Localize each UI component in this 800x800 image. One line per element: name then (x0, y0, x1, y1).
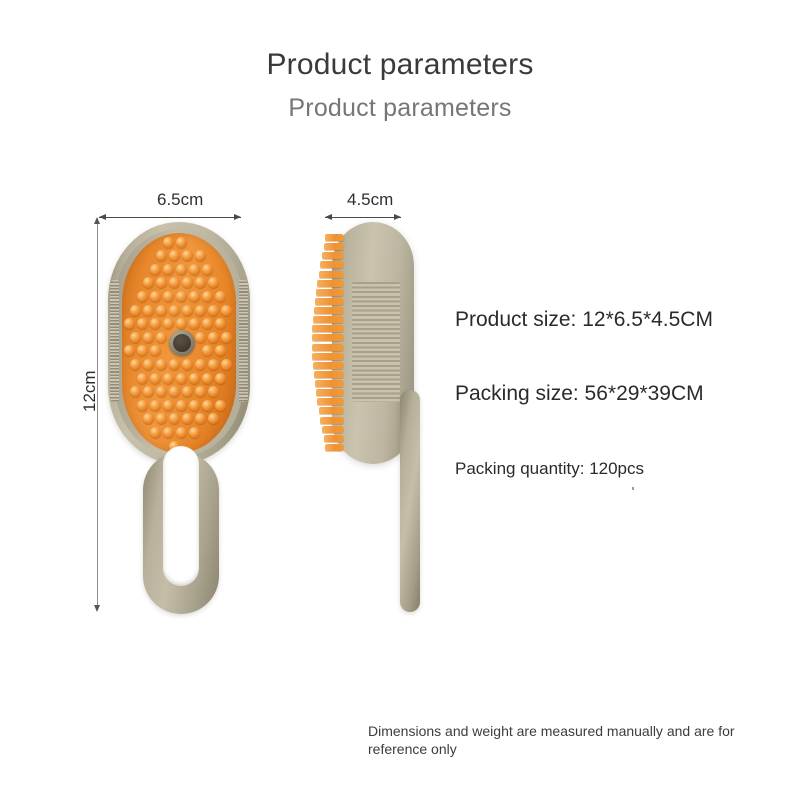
handle-strip-side (400, 390, 420, 612)
dimension-line-side-width (325, 217, 401, 218)
spec-packing-quantity: Packing quantity: 120pcs (455, 459, 644, 479)
silicone-nub (163, 291, 174, 302)
silicone-nub (202, 373, 213, 384)
dimension-label-side-width: 4.5cm (347, 190, 393, 210)
silicone-nub (208, 332, 219, 343)
silicone-nub (169, 413, 180, 424)
dimension-label-front-width: 6.5cm (157, 190, 203, 210)
bristle-row (322, 426, 344, 433)
silicone-nub (124, 318, 135, 329)
silicone-nub (202, 400, 213, 411)
silicone-nub (195, 250, 206, 261)
silicone-nub (163, 264, 174, 275)
bristle-row (313, 362, 344, 369)
silicone-nub (169, 250, 180, 261)
silicone-nub (189, 264, 200, 275)
silicone-nub (221, 332, 232, 343)
silicone-nub (169, 277, 180, 288)
silicone-nub (150, 427, 161, 438)
silicone-nub (156, 386, 167, 397)
silicone-nub (182, 413, 193, 424)
bristle-row (312, 325, 344, 332)
silicone-nub (137, 345, 148, 356)
silicone-nub (156, 359, 167, 370)
silicone-nub (156, 250, 167, 261)
page-subtitle: Product parameters (0, 94, 800, 123)
silicone-nub (137, 373, 148, 384)
product-parameters-page: Product parameters Product parameters 6.… (0, 0, 800, 800)
spec-product-size: Product size: 12*6.5*4.5CM (455, 308, 713, 332)
dimension-line-front-height (97, 222, 98, 608)
silicone-nub (130, 359, 141, 370)
silicone-nub (202, 345, 213, 356)
bristle-row (320, 417, 344, 424)
bristle-row (313, 316, 344, 323)
silicone-nub (182, 277, 193, 288)
bristle-row (312, 334, 344, 341)
silicone-nub (221, 359, 232, 370)
silicone-nub (169, 305, 180, 316)
silicone-nub (189, 318, 200, 329)
silicone-nub (130, 386, 141, 397)
silicone-nub (163, 373, 174, 384)
silicone-nub (137, 291, 148, 302)
silicone-nub (156, 305, 167, 316)
bristle-row (314, 307, 344, 314)
silicone-nub (195, 305, 206, 316)
bristle-row (312, 353, 344, 360)
bristle-row (320, 261, 344, 268)
silicone-nub (150, 400, 161, 411)
bristle-row (312, 344, 344, 351)
spec-packing-size: Packing size: 56*29*39CM (455, 382, 704, 406)
silicone-nub (176, 318, 187, 329)
bristle-row (316, 289, 344, 296)
silicone-nub (189, 427, 200, 438)
grip-ribs-side (352, 282, 400, 402)
silicone-nub (156, 332, 167, 343)
arrowhead-right-front-width (234, 214, 241, 220)
silicone-nub (195, 413, 206, 424)
silicone-nub (176, 373, 187, 384)
bristle-row (317, 280, 344, 287)
brush-bristles-side (310, 234, 344, 452)
silicone-nub (156, 277, 167, 288)
dimension-line-front-width (99, 217, 241, 218)
silicone-nub (208, 277, 219, 288)
silicone-nub (143, 332, 154, 343)
silicone-nub (195, 277, 206, 288)
grip-ribs-right (239, 280, 248, 402)
grip-ribs-left (110, 280, 119, 402)
bristle-row (315, 380, 344, 387)
arrowhead-left-front-width (99, 214, 106, 220)
silicone-nub (150, 264, 161, 275)
arrowhead-left-side-width (325, 214, 332, 220)
silicone-nub (156, 413, 167, 424)
bristle-row (324, 243, 344, 250)
page-title: Product parameters (0, 48, 800, 82)
silicone-nub (143, 413, 154, 424)
silicone-nub (182, 386, 193, 397)
silicone-nub (215, 373, 226, 384)
silicone-nub (143, 305, 154, 316)
arrowhead-bottom-front-height (94, 605, 100, 612)
silicone-nub (150, 318, 161, 329)
silicone-nub (202, 318, 213, 329)
silicone-nub (202, 291, 213, 302)
silicone-nub (182, 359, 193, 370)
silicone-nub (150, 345, 161, 356)
bristle-row (324, 435, 344, 442)
silicone-nub (182, 305, 193, 316)
silicone-nub (130, 305, 141, 316)
silicone-nub (176, 291, 187, 302)
handle-loop-opening (163, 446, 199, 586)
silicone-nub (208, 359, 219, 370)
product-front-view (108, 222, 250, 464)
product-side-view (310, 222, 430, 464)
silicone-nub (143, 277, 154, 288)
silicone-nub (163, 427, 174, 438)
arrowhead-right-side-width (394, 214, 401, 220)
silicone-nub (195, 332, 206, 343)
silicone-nub (163, 237, 174, 248)
silicone-nub (176, 427, 187, 438)
silicone-nub (169, 386, 180, 397)
silicone-nub (189, 400, 200, 411)
bristle-row (325, 234, 344, 241)
bristle-row (316, 389, 344, 396)
silicone-nub (143, 359, 154, 370)
silicone-nub (189, 373, 200, 384)
silicone-nub (130, 332, 141, 343)
bristle-row (319, 271, 344, 278)
silicone-nub (221, 305, 232, 316)
bristle-row (319, 407, 344, 414)
silicone-nub (215, 318, 226, 329)
bristle-row (317, 398, 344, 405)
handle-loop-front (143, 452, 219, 614)
silicone-nub (215, 345, 226, 356)
silicone-nub (150, 373, 161, 384)
steam-hole (173, 334, 191, 352)
silicone-nub (195, 359, 206, 370)
silicone-nub (208, 305, 219, 316)
silicone-nub (176, 400, 187, 411)
silicone-nub (215, 291, 226, 302)
spec-artifact-dot (632, 487, 634, 490)
steam-hole-ring (169, 330, 195, 356)
footer-disclaimer: Dimensions and weight are measured manua… (368, 722, 780, 758)
silicone-nub (176, 264, 187, 275)
bristle-row (315, 298, 344, 305)
silicone-nub (176, 237, 187, 248)
silicone-nub (169, 359, 180, 370)
silicone-nub (195, 386, 206, 397)
silicone-nub (163, 318, 174, 329)
silicone-nub (137, 318, 148, 329)
bristle-row (314, 371, 344, 378)
silicone-nub (215, 400, 226, 411)
silicone-nub (124, 345, 135, 356)
silicone-nub (208, 413, 219, 424)
arrowhead-top-front-height (94, 217, 100, 224)
silicone-nub (150, 291, 161, 302)
silicone-nub (189, 291, 200, 302)
bristle-row (322, 252, 344, 259)
silicone-nub (143, 386, 154, 397)
silicone-nub (163, 400, 174, 411)
silicone-nub (182, 250, 193, 261)
silicone-nub (137, 400, 148, 411)
silicone-nub (208, 386, 219, 397)
silicone-nub (202, 264, 213, 275)
bristle-row (325, 444, 344, 451)
